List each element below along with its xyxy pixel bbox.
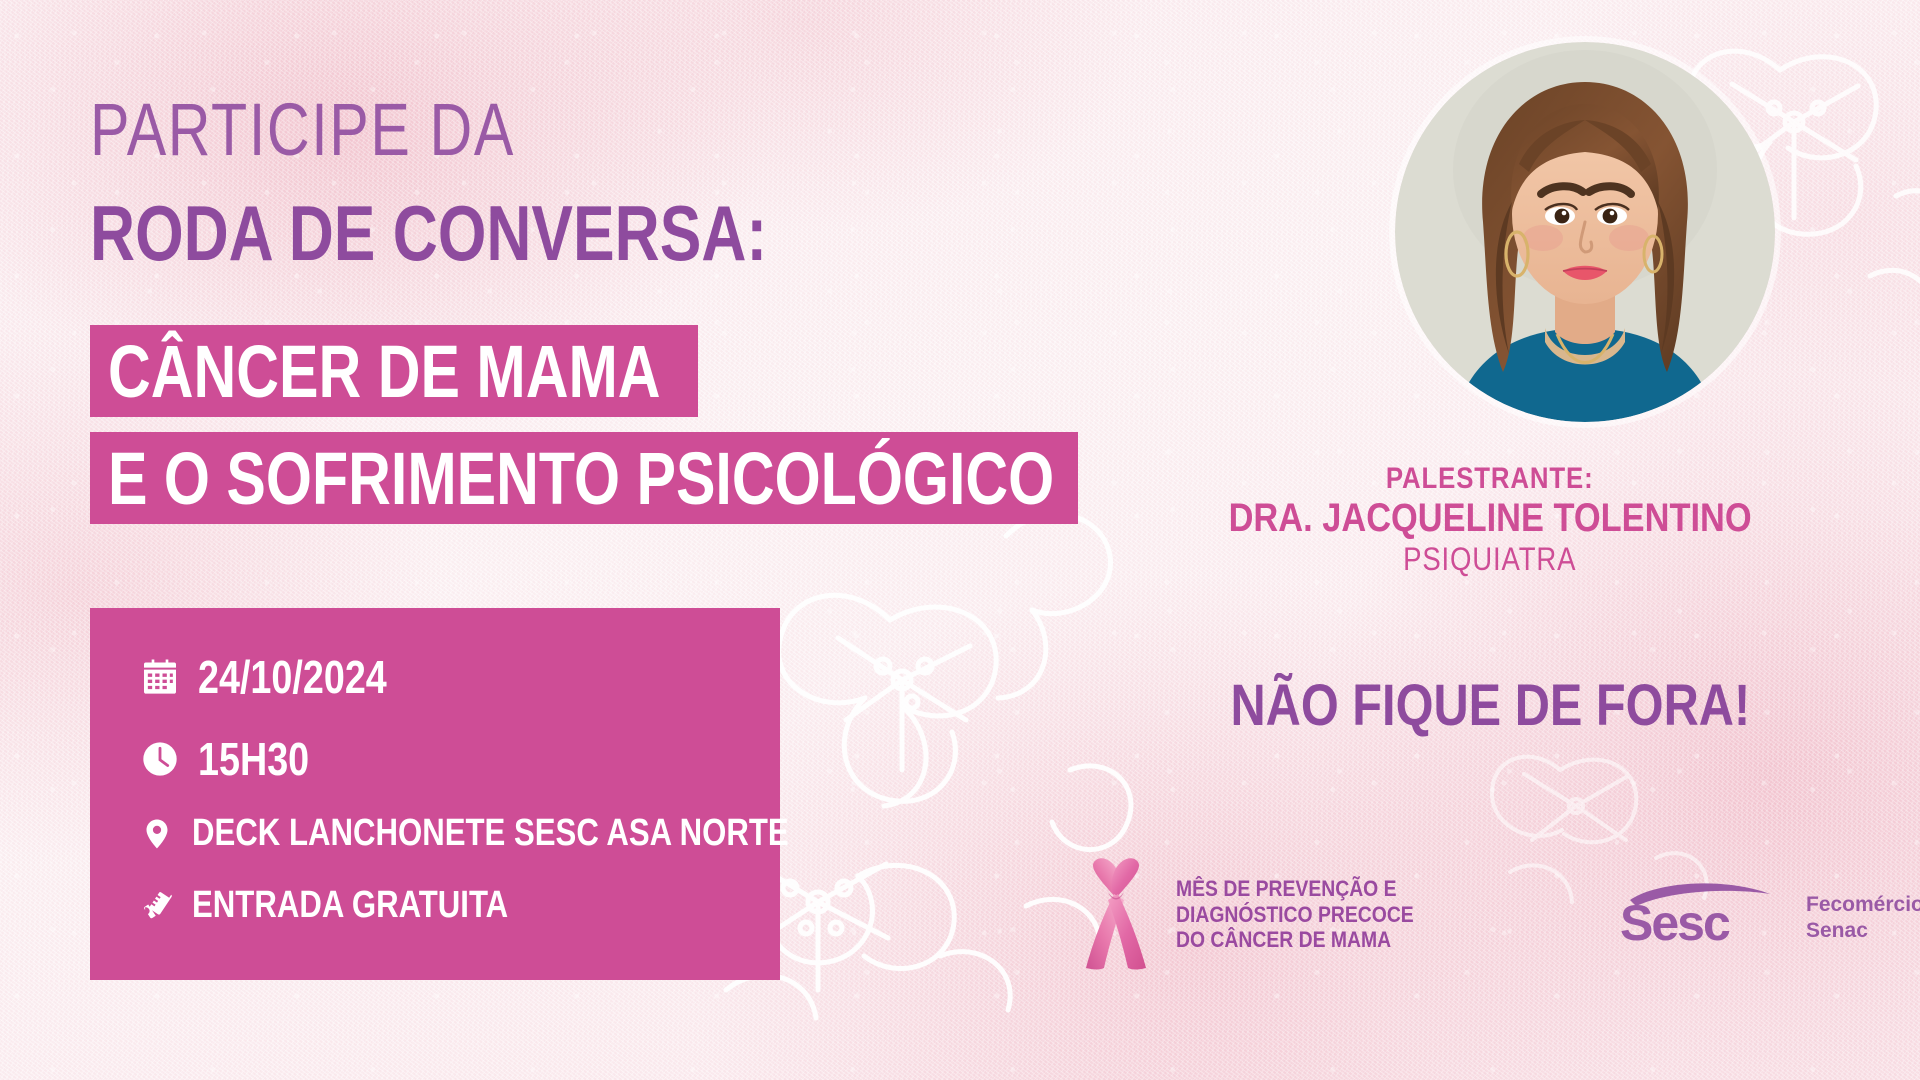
call-to-action: NÃO FIQUE DE FORA! — [1060, 672, 1920, 739]
speaker-specialty: PSIQUIATRA — [1403, 541, 1576, 578]
campaign-line-2: DIAGNÓSTICO PRECOCE — [1176, 902, 1414, 928]
event-detail-time-label: 15H30 — [198, 732, 309, 786]
ticket-icon — [140, 889, 174, 923]
event-detail-location: DECK LANCHONETE SESC ASA NORTE — [140, 812, 920, 855]
sesc-affiliate-1: Fecomércio — [1806, 892, 1920, 917]
event-detail-time: 15H30 — [140, 732, 334, 786]
headline-highlight-primary: CÂNCER DE MAMA — [90, 325, 698, 417]
speaker-info: PALESTRANTE: DRA. JACQUELINE TOLENTINO P… — [1060, 462, 1920, 578]
sesc-affiliates: Fecomércio Senac — [1806, 892, 1920, 942]
sesc-affiliate-2: Senac — [1806, 918, 1920, 943]
event-detail-date: 24/10/2024 — [140, 650, 428, 704]
sesc-wordmark-icon: Sesc — [1616, 878, 1792, 957]
speaker-role: PALESTRANTE: — [1386, 462, 1594, 496]
speaker-name: DRA. JACQUELINE TOLENTINO — [1228, 496, 1751, 541]
headline-highlight-secondary: E O SOFRIMENTO PSICOLÓGICO — [90, 432, 1078, 524]
event-detail-entry-label: ENTRADA GRATUITA — [192, 884, 508, 927]
headline-kicker: PARTICIPE DA — [90, 96, 515, 164]
pink-ribbon-icon — [1070, 852, 1162, 977]
event-detail-entry: ENTRADA GRATUITA — [140, 884, 578, 927]
calendar-icon — [140, 657, 180, 697]
event-detail-location-label: DECK LANCHONETE SESC ASA NORTE — [192, 812, 789, 855]
event-details-panel: 24/10/2024 15H30 DECK — [90, 608, 780, 980]
campaign-text: MÊS DE PREVENÇÃO E DIAGNÓSTICO PRECOCE D… — [1176, 876, 1446, 953]
campaign-line-1: MÊS DE PREVENÇÃO E — [1176, 876, 1414, 902]
left-content-column: PARTICIPE DA RODA DE CONVERSA: CÂNCER DE… — [0, 0, 1060, 1080]
campaign-line-3: DO CÂNCER DE MAMA — [1176, 927, 1414, 953]
headline-highlight-secondary-text: E O SOFRIMENTO PSICOLÓGICO — [108, 436, 1054, 521]
speaker-photo — [1395, 42, 1775, 422]
headline-highlight-primary-text: CÂNCER DE MAMA — [108, 329, 661, 414]
location-pin-icon — [140, 817, 174, 851]
sesc-logo: Sesc Fecomércio Senac — [1616, 878, 1920, 957]
svg-text:Sesc: Sesc — [1620, 895, 1730, 951]
campaign-lockup: MÊS DE PREVENÇÃO E DIAGNÓSTICO PRECOCE D… — [1070, 852, 1446, 977]
poster-canvas: PARTICIPE DA RODA DE CONVERSA: CÂNCER DE… — [0, 0, 1920, 1080]
clock-icon — [140, 739, 180, 779]
right-content-column: PALESTRANTE: DRA. JACQUELINE TOLENTINO P… — [1060, 0, 1920, 1080]
event-detail-date-label: 24/10/2024 — [198, 650, 387, 704]
call-to-action-text: NÃO FIQUE DE FORA! — [1230, 672, 1750, 739]
headline-subject: RODA DE CONVERSA: — [90, 198, 767, 268]
